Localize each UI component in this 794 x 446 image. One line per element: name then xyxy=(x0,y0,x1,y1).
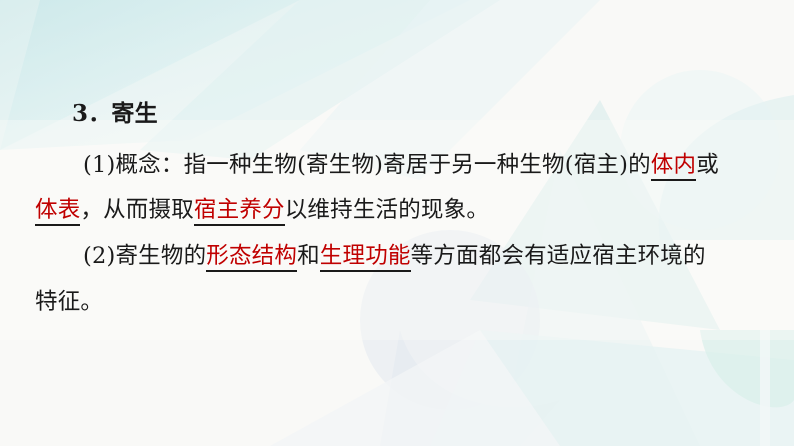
paragraph-line-2: 体表，从而摄取宿主养分以维持生活的现象。 xyxy=(35,195,489,225)
text-segment: ，从而摄取 xyxy=(80,197,194,223)
text-segment: 和 xyxy=(297,243,320,269)
highlight-term: 宿主养分 xyxy=(194,197,285,226)
slide-content: 3．寄生 (1)概念：指一种生物(寄生物)寄居于另一种生物(宿主)的体内或 体表… xyxy=(0,0,794,446)
text-segment: 特征。 xyxy=(35,289,103,315)
paragraph-line-3: (2)寄生物的形态结构和生理功能等方面都会有适应宿主环境的 xyxy=(83,241,706,271)
highlight-term: 体表 xyxy=(35,197,80,226)
slide-canvas: 3．寄生 (1)概念：指一种生物(寄生物)寄居于另一种生物(宿主)的体内或 体表… xyxy=(0,0,794,446)
highlight-term: 生理功能 xyxy=(320,243,411,272)
text-segment: (1)概念：指一种生物(寄生物)寄居于另一种生物(宿主)的 xyxy=(83,152,651,178)
highlight-term: 体内 xyxy=(651,152,696,181)
paragraph-line-4: 特征。 xyxy=(35,287,103,317)
text-segment: (2)寄生物的 xyxy=(83,243,206,269)
text-segment: 或 xyxy=(696,152,719,178)
text-segment: 等方面都会有适应宿主环境的 xyxy=(411,243,706,269)
paragraph-line-1: (1)概念：指一种生物(寄生物)寄居于另一种生物(宿主)的体内或 xyxy=(83,150,719,180)
highlight-term: 形态结构 xyxy=(206,243,297,272)
section-heading: 3．寄生 xyxy=(72,99,158,129)
text-segment: 以维持生活的现象。 xyxy=(285,197,489,223)
